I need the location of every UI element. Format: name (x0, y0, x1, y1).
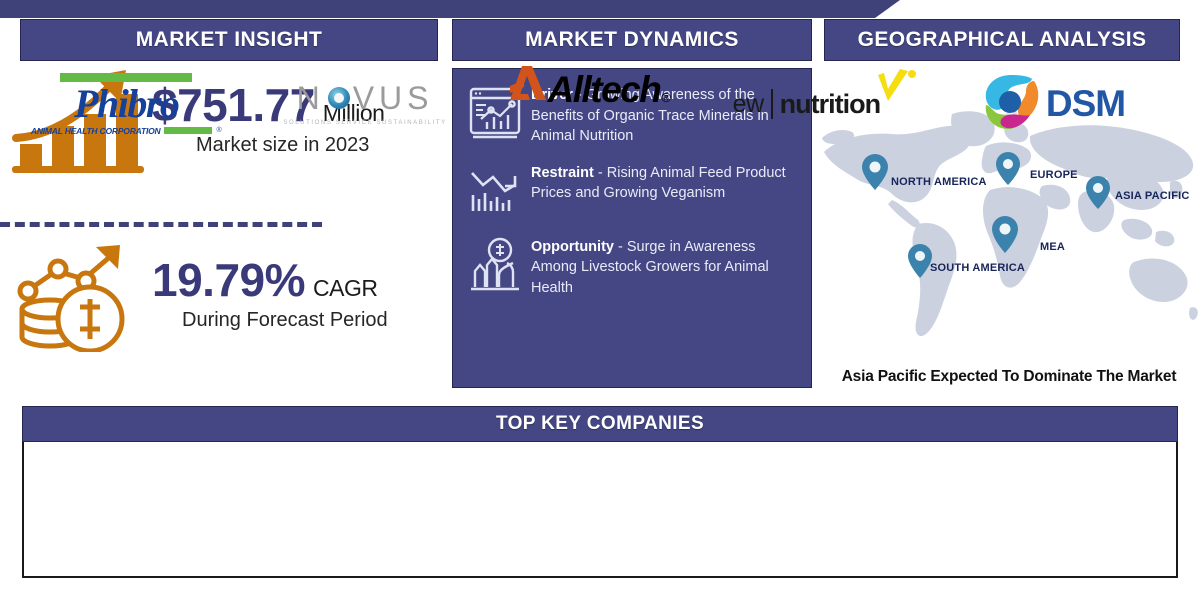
top-decorative-band (0, 0, 900, 18)
cagr-text: 19.79%CAGR During Forecast Period (152, 257, 388, 332)
dsm-wordmark: DSM (1046, 83, 1125, 125)
dynamics-opportunity-text: Opportunity - Surge in Awareness Among L… (531, 235, 797, 299)
geographical-caption: Asia Pacific Expected To Dominate The Ma… (818, 368, 1200, 386)
logo-phibro[interactable]: Phibro ANIMAL HEALTH CORPORATION ® (31, 64, 222, 144)
novus-letters-vus: VUS (353, 82, 434, 114)
dynamics-opportunity-dash: - (614, 239, 627, 255)
dsm-swirl-icon (980, 71, 1042, 138)
hand-coin-growth-icon (467, 237, 523, 295)
cagr-value: 19.79% (152, 254, 305, 306)
logo-alltech[interactable]: Alltech ® (508, 64, 670, 144)
novus-wordmark: N VUS (297, 82, 434, 114)
phibro-green-bar-small-icon (164, 127, 212, 134)
coins-trend-arrow-icon (8, 237, 148, 352)
phibro-registered-mark: ® (216, 127, 221, 134)
ewn-prefix: ew (733, 90, 764, 119)
infographic-canvas: MARKET INSIGHT $751. (0, 0, 1200, 600)
region-label-south-america: SOUTH AMERICA (930, 262, 1025, 274)
phibro-wordmark: Phibro (74, 84, 178, 124)
company-logo-row: Phibro ANIMAL HEALTH CORPORATION ® N VUS… (0, 36, 1156, 172)
logo-ew-nutrition[interactable]: ew nutrition (733, 64, 918, 144)
logo-novus[interactable]: N VUS SOLUTIONS SERVICE SUSTAINABILITY (283, 64, 446, 144)
header-top-key-companies: TOP KEY COMPANIES (22, 406, 1178, 442)
logo-dsm[interactable]: DSM (980, 64, 1125, 144)
novus-globe-icon (328, 87, 350, 109)
region-label-north-america: NORTH AMERICA (891, 176, 987, 188)
dynamics-opportunity-label: Opportunity (531, 239, 614, 255)
insight-dashed-divider (0, 222, 322, 227)
novus-tagline: SOLUTIONS SERVICE SUSTAINABILITY (283, 120, 446, 126)
ewn-wordmark: nutrition (780, 89, 880, 120)
ewn-checkmark-icon (874, 69, 918, 114)
cagr-unit: CAGR (313, 275, 377, 301)
cagr-caption: During Forecast Period (152, 309, 388, 332)
region-label-mea: MEA (1040, 241, 1065, 253)
alltech-a-mark-icon (508, 64, 550, 102)
stat-cagr: 19.79%CAGR During Forecast Period (8, 237, 388, 352)
ewn-divider (771, 89, 773, 119)
alltech-registered-mark: ® (661, 90, 671, 105)
cagr-value-row: 19.79%CAGR (152, 257, 388, 304)
novus-letter-n: N (297, 82, 325, 114)
phibro-tagline-row: ANIMAL HEALTH CORPORATION ® (31, 126, 222, 136)
phibro-tagline: ANIMAL HEALTH CORPORATION (31, 126, 161, 136)
dynamics-item-opportunity: Opportunity - Surge in Awareness Among L… (453, 221, 811, 299)
region-label-asia-pacific: ASIA PACIFIC (1115, 190, 1190, 202)
header-top-key-companies-label: TOP KEY COMPANIES (496, 413, 704, 435)
alltech-wordmark: Alltech (547, 69, 660, 111)
